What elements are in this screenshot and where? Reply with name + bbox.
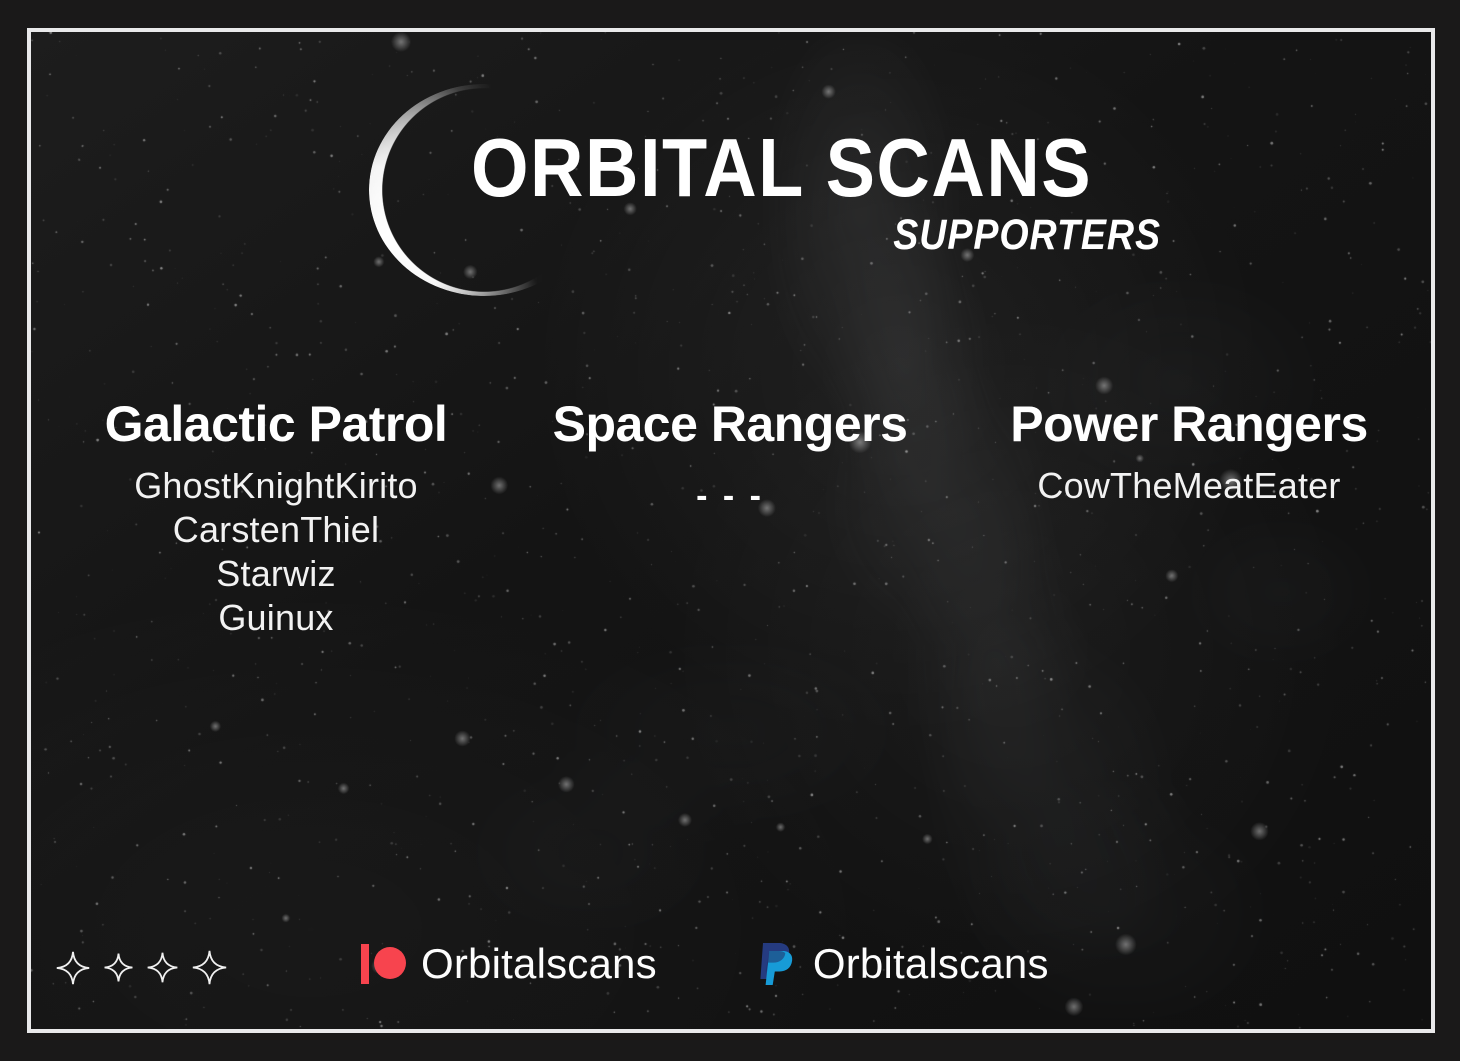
logo-block: ORBITAL SCANS SUPPORTERS <box>31 70 1431 300</box>
tier-empty-placeholder: - - - <box>515 474 945 518</box>
sparkle-icon <box>146 951 179 984</box>
paypal-link[interactable]: Orbitalscans <box>757 941 1049 987</box>
poster-frame: ORBITAL SCANS SUPPORTERS Galactic Patrol… <box>27 28 1435 1033</box>
logo-text: ORBITAL SCANS SUPPORTERS <box>471 130 1171 257</box>
tier-title: Power Rangers <box>969 396 1409 452</box>
patreon-link[interactable]: Orbitalscans <box>361 943 657 985</box>
tier-column-power-rangers: Power Rangers CowTheMeatEater <box>969 396 1409 508</box>
tier-column-galactic-patrol: Galactic Patrol GhostKnightKirito Carste… <box>61 396 491 640</box>
paypal-icon <box>757 941 797 987</box>
patreon-icon <box>361 944 405 984</box>
list-item: Starwiz <box>61 552 491 596</box>
patreon-bar <box>361 944 369 984</box>
brand-row: Orbitalscans Orbitalscans <box>361 941 1049 987</box>
logo-title: ORBITAL SCANS <box>471 130 1171 206</box>
tier-name-list: GhostKnightKirito CarstenThiel Starwiz G… <box>61 464 491 640</box>
sparkle-icon <box>55 950 91 986</box>
paypal-handle: Orbitalscans <box>813 943 1049 985</box>
list-item: CarstenThiel <box>61 508 491 552</box>
supporters-poster: ORBITAL SCANS SUPPORTERS Galactic Patrol… <box>0 0 1460 1061</box>
list-item: Guinux <box>61 596 491 640</box>
tier-title: Space Rangers <box>515 396 945 452</box>
sparkle-decorations <box>55 949 228 986</box>
tier-column-space-rangers: Space Rangers - - - <box>515 396 945 518</box>
patreon-dot <box>374 947 406 979</box>
tier-title: Galactic Patrol <box>61 396 491 452</box>
patreon-handle: Orbitalscans <box>421 943 657 985</box>
list-item: CowTheMeatEater <box>969 464 1409 508</box>
footer: Orbitalscans Orbitalscans <box>31 941 1431 1011</box>
sparkle-icon <box>191 949 228 986</box>
sparkle-icon <box>103 952 134 983</box>
tier-columns: Galactic Patrol GhostKnightKirito Carste… <box>61 396 1409 640</box>
logo-subtitle: SUPPORTERS <box>512 212 1161 260</box>
tier-name-list: CowTheMeatEater <box>969 464 1409 508</box>
list-item: GhostKnightKirito <box>61 464 491 508</box>
